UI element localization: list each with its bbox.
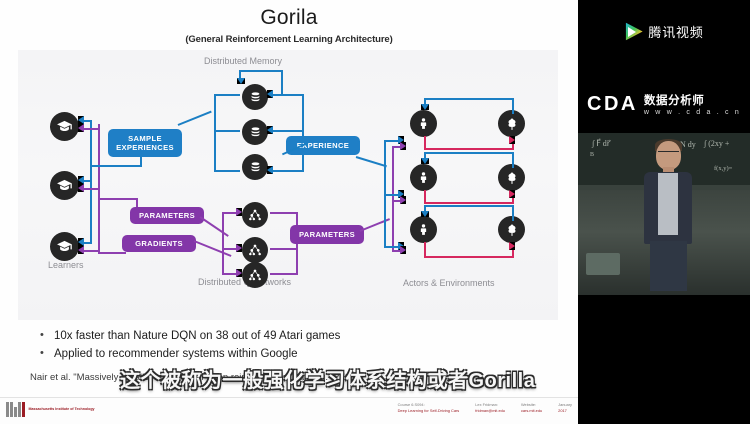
callout-sample-experiences-line1: SAMPLE bbox=[128, 134, 162, 143]
environment-node-1 bbox=[498, 110, 525, 137]
arrowhead-blue-learner-1 bbox=[78, 116, 84, 124]
footer-date-heading: January bbox=[558, 402, 572, 408]
arrowhead-qnet-in-1 bbox=[236, 208, 242, 216]
connector-experience-from-actors bbox=[356, 156, 387, 167]
label-actors-environments: Actors & Environments bbox=[403, 278, 495, 288]
learner-node-1 bbox=[50, 112, 79, 141]
graduation-cap-icon bbox=[56, 118, 73, 135]
actor-node-2 bbox=[410, 164, 437, 191]
arrowhead-purple-learner-1 bbox=[78, 124, 84, 132]
loop-blue-right-2 bbox=[512, 152, 514, 168]
connector-purple-to-learner-1 bbox=[82, 128, 99, 130]
mit-logo: Massachusetts Institute of Technology bbox=[6, 402, 95, 417]
lecture-video-feed[interactable]: ∫ F⃗ dr⃗ B = 0 + N dy ∫ (2xy + f(x,y)= bbox=[578, 133, 750, 295]
neural-network-icon bbox=[248, 243, 262, 257]
learner-node-3 bbox=[50, 232, 79, 261]
speaker-figure bbox=[630, 141, 706, 291]
memory-left-bus bbox=[214, 94, 216, 172]
person-icon bbox=[417, 223, 430, 236]
memory-top-loop-h bbox=[239, 70, 283, 72]
memory-right-bus bbox=[302, 94, 304, 172]
qnetwork-node-1 bbox=[242, 202, 268, 228]
footer-instructor-value: fridman@mit.edu bbox=[475, 408, 505, 414]
learner-node-2 bbox=[50, 171, 79, 200]
bullet-item: Applied to recommender systems within Go… bbox=[38, 346, 548, 364]
arrowhead-pink-loop-1 bbox=[509, 136, 515, 144]
footer-course-value: Deep Learning for Self-Driving Cars bbox=[398, 408, 460, 414]
arrowhead-blue-loop-3 bbox=[421, 211, 429, 217]
actors-bus-purple bbox=[392, 146, 394, 250]
memory-right-branch-2 bbox=[270, 130, 304, 132]
arrowhead-purple-actor-3 bbox=[400, 246, 406, 254]
callout-parameters-left[interactable]: PARAMETERS bbox=[130, 207, 204, 224]
glasses-icon bbox=[658, 151, 679, 156]
qnetwork-node-2 bbox=[242, 237, 268, 263]
qnetwork-node-3 bbox=[242, 262, 268, 288]
arrowhead-blue-learner-3 bbox=[78, 238, 84, 246]
loop-blue-top-3 bbox=[424, 205, 514, 207]
mit-logo-text: Massachusetts Institute of Technology bbox=[29, 407, 95, 412]
arrowhead-memory-in-3 bbox=[267, 166, 273, 174]
loop-pink-bot-2 bbox=[424, 202, 514, 204]
video-player-frame: Gorila (General Reinforcement Learning A… bbox=[0, 0, 750, 424]
callout-parameters-right[interactable]: PARAMETERS bbox=[290, 225, 364, 244]
callout-gradients-label: GRADIENTS bbox=[135, 239, 183, 248]
connector-purple-to-learner-3 bbox=[82, 250, 99, 252]
database-icon bbox=[249, 161, 262, 174]
connector-purple-to-learner-2 bbox=[82, 188, 99, 190]
tencent-video-label: 腾讯视频 bbox=[648, 22, 703, 41]
connector-sample-to-memory bbox=[178, 111, 212, 127]
laptop bbox=[586, 253, 620, 275]
connector-params-from-bus bbox=[98, 198, 138, 200]
memory-right-branch-3 bbox=[270, 170, 304, 172]
memory-left-branch-1 bbox=[214, 94, 240, 96]
arrowhead-memory-in-2 bbox=[267, 126, 273, 134]
actor-node-3 bbox=[410, 216, 437, 243]
chalk-equation: ∫ F⃗ dr⃗ bbox=[592, 139, 610, 148]
callout-parameters-right-label: PARAMETERS bbox=[299, 230, 355, 239]
callout-sample-experiences-line2: EXPERIENCES bbox=[116, 143, 174, 152]
cda-text-block: 数据分析师 w w w . c d a . c n bbox=[644, 92, 741, 116]
tree-icon bbox=[505, 117, 519, 131]
mit-bars-icon bbox=[6, 402, 25, 417]
bullet-list: 10x faster than Nature DQN on 38 out of … bbox=[38, 328, 548, 364]
tree-icon bbox=[505, 171, 519, 185]
footer-column-instructor: Lex Fridman: fridman@mit.edu bbox=[475, 402, 505, 414]
loop-blue-right-1 bbox=[512, 98, 514, 114]
connector-parameters-left-link bbox=[199, 216, 228, 237]
loop-blue-top-1 bbox=[424, 98, 514, 100]
footer-columns: Course 6.S094: Deep Learning for Self-Dr… bbox=[398, 402, 572, 414]
arrowhead-pink-loop-2 bbox=[509, 190, 515, 198]
loop-blue-top-2 bbox=[424, 152, 514, 154]
memory-left-branch-2 bbox=[214, 130, 240, 132]
callout-sample-experiences[interactable]: SAMPLE EXPERIENCES bbox=[108, 129, 182, 157]
loop-pink-left-2 bbox=[424, 190, 426, 204]
cda-letters: CDA bbox=[587, 93, 638, 116]
loop-pink-left-1 bbox=[424, 136, 426, 150]
speaker-shirt bbox=[658, 173, 678, 235]
label-learners: Learners bbox=[48, 260, 84, 270]
arrowhead-purple-learner-3 bbox=[78, 246, 84, 254]
footer-column-website: Website: cars.mit.edu bbox=[521, 402, 542, 414]
database-icon bbox=[249, 126, 262, 139]
memory-node-2 bbox=[242, 119, 268, 145]
arrowhead-qnet-in-2 bbox=[236, 244, 242, 252]
play-triangle-icon bbox=[624, 22, 643, 41]
neural-network-icon bbox=[248, 208, 262, 222]
memory-node-1 bbox=[242, 84, 268, 110]
speaker-legs bbox=[650, 241, 687, 291]
arrowhead-purple-actor-2 bbox=[400, 196, 406, 204]
loop-blue-right-3 bbox=[512, 205, 514, 221]
qnet-right-branch-2 bbox=[270, 248, 298, 250]
presentation-slide: Gorila (General Reinforcement Learning A… bbox=[0, 0, 578, 424]
cda-chinese-label: 数据分析师 bbox=[644, 92, 741, 108]
footer-website-value: cars.mit.edu bbox=[521, 408, 542, 414]
slide-subtitle: (General Reinforcement Learning Architec… bbox=[0, 34, 578, 45]
arrowhead-purple-actor-1 bbox=[400, 142, 406, 150]
right-side-panel: 腾讯视频 CDA 数据分析师 w w w . c d a . c n ∫ F⃗ … bbox=[578, 0, 750, 424]
actors-bus-blue bbox=[384, 140, 386, 246]
footer-column-date: January 2017 bbox=[558, 402, 572, 414]
chalk-equation: f(x,y)= bbox=[714, 165, 732, 172]
qnet-left-bus bbox=[222, 212, 224, 274]
cda-url-label: w w w . c d a . c n bbox=[644, 109, 741, 116]
loop-pink-bot-3 bbox=[424, 256, 514, 258]
person-icon bbox=[417, 117, 430, 130]
slide-title: Gorila bbox=[0, 6, 578, 30]
cda-watermark: CDA 数据分析师 w w w . c d a . c n bbox=[578, 92, 750, 116]
arrowhead-blue-loop-2 bbox=[421, 158, 429, 164]
arrowhead-qnet-in-3 bbox=[236, 269, 242, 277]
connector-gradients-from-bus bbox=[98, 252, 126, 254]
label-distributed-memory: Distributed Memory bbox=[204, 56, 282, 66]
bullet-item: 10x faster than Nature DQN on 38 out of … bbox=[38, 328, 548, 346]
gorila-architecture-diagram: Distributed Memory Distributed Q-Network… bbox=[18, 50, 558, 320]
callout-gradients[interactable]: GRADIENTS bbox=[122, 235, 196, 252]
neural-network-icon bbox=[248, 268, 262, 282]
arrowhead-memory-in-1 bbox=[267, 90, 273, 98]
memory-node-3 bbox=[242, 154, 268, 180]
environment-node-2 bbox=[498, 164, 525, 191]
footer-date-value: 2017 bbox=[558, 408, 572, 414]
memory-right-branch-1 bbox=[270, 94, 304, 96]
panel-filler bbox=[578, 295, 750, 424]
video-subtitle: 这个被称为一般强化学习体系结构或者Gorilla bbox=[120, 364, 640, 393]
connector-sample-to-bus bbox=[90, 165, 142, 167]
arrowhead-blue-loop-1 bbox=[421, 104, 429, 110]
tree-icon bbox=[505, 223, 519, 237]
graduation-cap-icon bbox=[56, 238, 73, 255]
qnet-right-branch-1 bbox=[270, 212, 298, 214]
qnet-right-branch-3 bbox=[270, 273, 298, 275]
tencent-video-logo: 腾讯视频 bbox=[578, 22, 750, 41]
chalk-equation: ∫ (2xy + bbox=[704, 139, 729, 148]
callout-parameters-left-label: PARAMETERS bbox=[139, 211, 195, 220]
chalk-equation: B bbox=[590, 152, 594, 158]
person-icon bbox=[417, 171, 430, 184]
memory-top-loop-r bbox=[281, 70, 283, 94]
slide-footer: Massachusetts Institute of Technology Co… bbox=[0, 397, 578, 424]
arrowhead-pink-loop-3 bbox=[509, 242, 515, 250]
arrowhead-purple-learner-2 bbox=[78, 184, 84, 192]
arrowhead-blue-learner-2 bbox=[78, 176, 84, 184]
footer-column-course: Course 6.S094: Deep Learning for Self-Dr… bbox=[398, 402, 460, 414]
loop-pink-left-3 bbox=[424, 242, 426, 258]
memory-left-branch-3 bbox=[214, 170, 240, 172]
loop-pink-bot-1 bbox=[424, 148, 514, 150]
database-icon bbox=[249, 91, 262, 104]
graduation-cap-icon bbox=[56, 177, 73, 194]
actor-node-1 bbox=[410, 110, 437, 137]
